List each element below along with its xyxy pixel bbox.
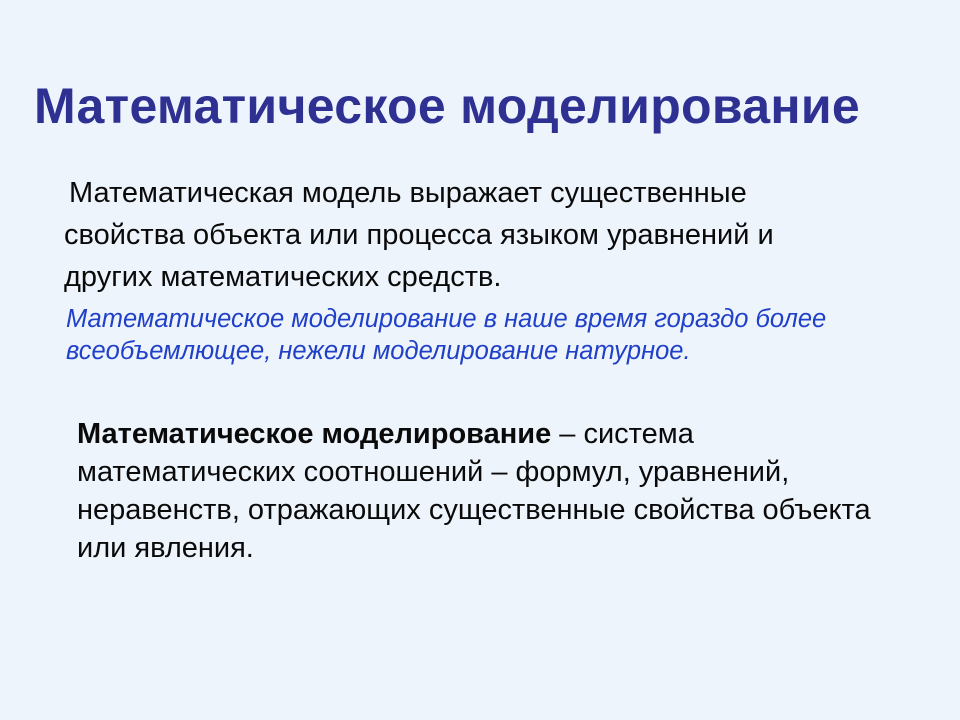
paragraph-definition: Математическая модель выражает существен…: [64, 172, 854, 298]
paragraph-system-definition: Математическое моделирование – система м…: [77, 415, 877, 567]
paragraph-system-lead-term: Математическое моделирование: [77, 418, 551, 450]
presentation-slide: Математическое моделирование Математичес…: [0, 0, 960, 720]
slide-title: Математическое моделирование: [34, 78, 926, 134]
paragraph-emphasis: Математическое моделирование в наше врем…: [66, 303, 876, 367]
